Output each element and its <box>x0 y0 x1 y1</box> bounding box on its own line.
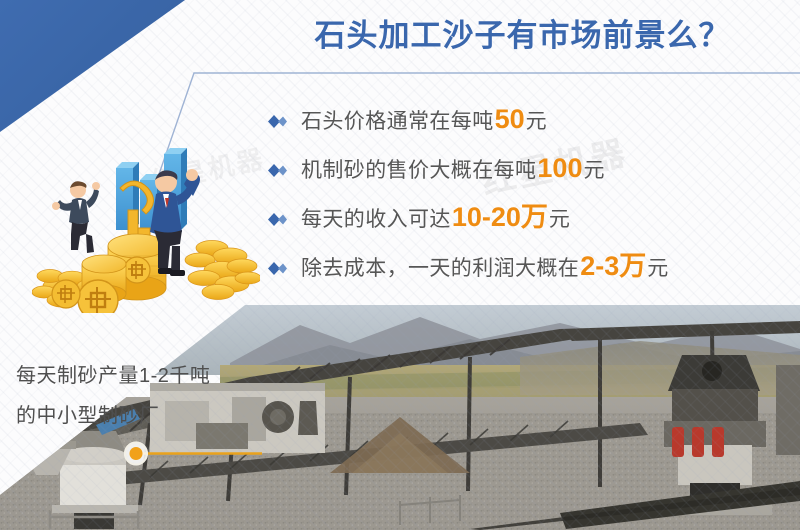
caption-pointer-artwork <box>122 440 262 468</box>
photo-caption: 每天制砂产量1-2千吨 的中小型制砂厂 <box>16 356 266 436</box>
corner-triangle-decoration <box>0 0 185 132</box>
list-item-text: 石头价格通常在每吨50元 <box>301 106 547 135</box>
caption-pointer <box>122 440 262 468</box>
gold-coins-growth-illustration <box>32 128 260 313</box>
list-item-suffix: 元 <box>583 159 604 182</box>
diamond-chevron-icon <box>268 161 287 180</box>
list-item: 石头价格通常在每吨50元 <box>268 96 788 145</box>
bullet-list: 石头价格通常在每吨50元 机制砂的售价大概在每吨100元 每天的收入可达10-2… <box>268 96 788 292</box>
list-item-text: 机制砂的售价大概在每吨100元 <box>301 155 605 184</box>
diamond-chevron-icon <box>268 259 287 278</box>
photo-caption-line-1: 每天制砂产量1-2千吨 <box>16 356 266 396</box>
list-item-text: 除去成本，一天的利润大概在2-3万元 <box>301 253 669 282</box>
illustration-artwork <box>32 128 260 313</box>
list-item-suffix: 元 <box>526 110 547 133</box>
list-item-prefix: 除去成本，一天的利润大概在 <box>301 257 579 280</box>
list-item-value: 10-20万 <box>451 202 549 232</box>
diamond-chevron-icon <box>268 112 287 131</box>
list-item-value: 100 <box>536 153 583 183</box>
page-title: 石头加工沙子有市场前景么？ <box>255 14 790 58</box>
photo-caption-line-2: 的中小型制砂厂 <box>16 396 266 436</box>
diamond-chevron-icon <box>268 210 287 229</box>
list-item: 每天的收入可达10-20万元 <box>268 194 788 243</box>
list-item-prefix: 石头价格通常在每吨 <box>301 110 494 133</box>
list-item-suffix: 元 <box>647 257 668 280</box>
list-item: 机制砂的售价大概在每吨100元 <box>268 145 788 194</box>
list-item: 除去成本，一天的利润大概在2-3万元 <box>268 243 788 292</box>
list-item-prefix: 每天的收入可达 <box>301 208 451 231</box>
poster-root: 红星机器 红星机器 石头加工沙子有市场前景么？ <box>0 0 800 530</box>
list-item-value: 2-3万 <box>579 251 647 281</box>
list-item-prefix: 机制砂的售价大概在每吨 <box>301 159 536 182</box>
list-item-value: 50 <box>494 104 526 134</box>
list-item-text: 每天的收入可达10-20万元 <box>301 204 570 233</box>
list-item-suffix: 元 <box>549 208 570 231</box>
